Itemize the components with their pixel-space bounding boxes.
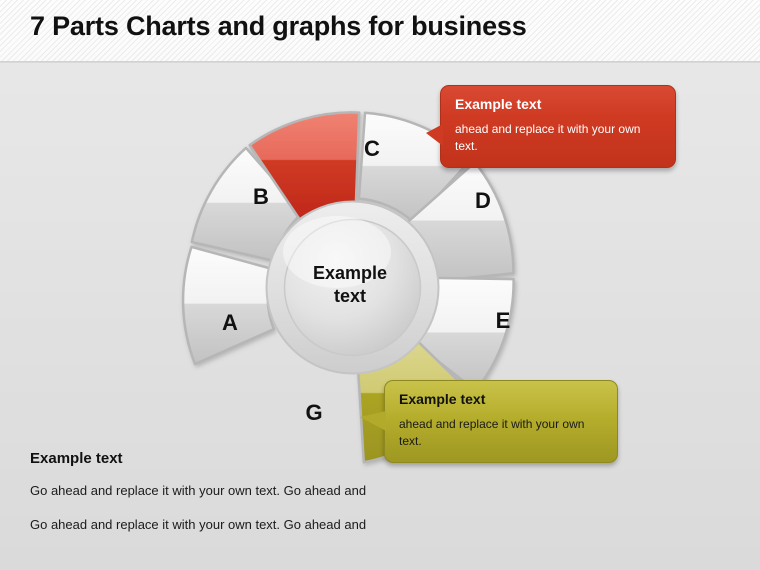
callout-red-tail xyxy=(426,124,443,146)
footer-title: Example text xyxy=(30,450,460,467)
hub-gloss xyxy=(283,216,391,288)
callout-red[interactable]: Example text ahead and replace it with y… xyxy=(440,85,676,168)
footer-text-block: Example text Go ahead and replace it wit… xyxy=(30,450,460,551)
callout-red-body: ahead and replace it with your own text. xyxy=(455,121,661,155)
callout-olive-tail xyxy=(360,411,386,431)
segment-A[interactable] xyxy=(183,247,274,364)
callout-red-title: Example text xyxy=(455,96,661,112)
callout-olive-body: ahead and replace it with your own text. xyxy=(399,416,603,450)
footer-line-2: Go ahead and replace it with your own te… xyxy=(30,517,460,532)
footer-line-1: Go ahead and replace it with your own te… xyxy=(30,483,460,498)
callout-red-box[interactable]: Example text ahead and replace it with y… xyxy=(440,85,676,168)
slide-canvas: 7 Parts Charts and graphs for business xyxy=(0,0,760,570)
callout-olive-title: Example text xyxy=(399,391,603,407)
